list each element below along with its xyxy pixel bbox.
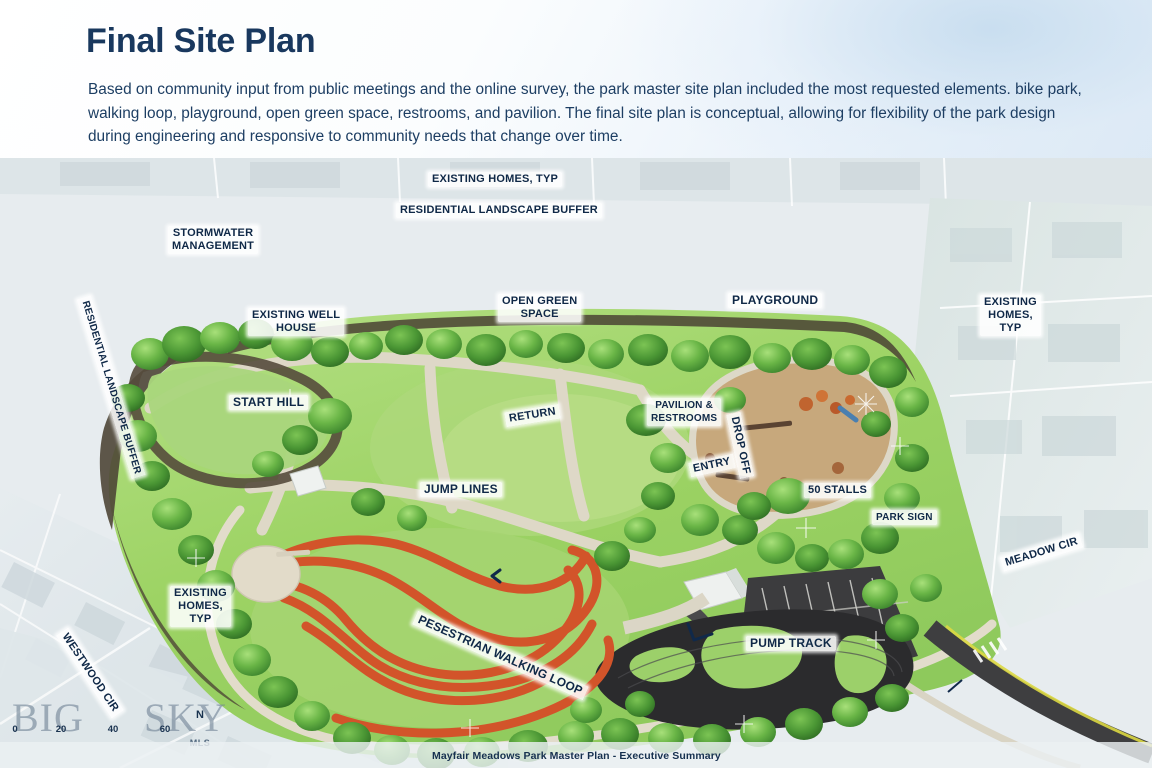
map-label-pavilion-restrooms: PAVILION & RESTROOMS	[647, 398, 721, 426]
map-caption: Mayfair Meadows Park Master Plan - Execu…	[432, 750, 721, 762]
map-label-stormwater-management: STORMWATER MANAGEMENT	[168, 226, 258, 254]
header-banner: Final Site Plan Based on community input…	[0, 0, 1152, 160]
map-label-existing-homes-right: EXISTING HOMES, TYP	[980, 295, 1041, 336]
map-label-playground: PLAYGROUND	[728, 293, 822, 308]
map-label-50-stalls: 50 STALLS	[804, 483, 871, 498]
map-label-jump-lines: JUMP LINES	[420, 482, 502, 497]
site-plan-page: Final Site Plan Based on community input…	[0, 0, 1152, 768]
map-label-park-sign: PARK SIGN	[872, 510, 937, 525]
map-label-existing-homes-top: EXISTING HOMES, TYP	[428, 172, 562, 187]
site-plan-map[interactable]: EXISTING HOMES, TYP RESIDENTIAL LANDSCAP…	[0, 158, 1152, 768]
page-title: Final Site Plan	[86, 22, 315, 61]
map-label-pump-track: PUMP TRACK	[746, 636, 836, 651]
map-label-start-hill: START HILL	[229, 395, 308, 410]
map-label-open-green-space: OPEN GREEN SPACE	[498, 294, 581, 322]
map-label-existing-homes-bottom-left: EXISTING HOMES, TYP	[170, 586, 231, 627]
page-description: Based on community input from public mee…	[88, 78, 1090, 149]
map-label-existing-well-house: EXISTING WELL HOUSE	[248, 308, 344, 336]
map-label-residential-buffer-top: RESIDENTIAL LANDSCAPE BUFFER	[396, 203, 602, 218]
